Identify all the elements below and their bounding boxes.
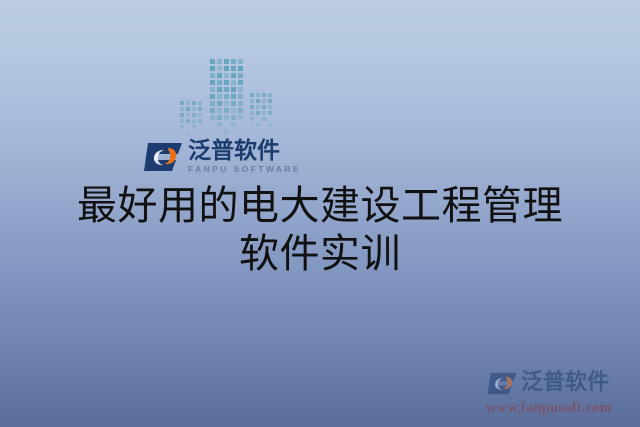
brand-name-cn: 泛普软件: [188, 140, 301, 163]
brand-name-en: FANPU SOFTWARE: [188, 164, 301, 174]
center-brand-wordmark: 泛普软件 FANPU SOFTWARE: [188, 140, 301, 175]
watermark-logo-row: 泛普软件: [486, 368, 634, 398]
watermark-brand-name: 泛普软件: [521, 372, 609, 394]
brand-watermark: 泛普软件 www.fanpusoft.com: [486, 368, 634, 418]
title-line-2: 软件实训: [0, 230, 640, 278]
center-brand-logo: 泛普软件 FANPU SOFTWARE: [142, 134, 292, 180]
title-line-1: 最好用的电大建设工程管理: [0, 182, 640, 230]
watermark-url: www.fanpusoft.com: [486, 401, 634, 416]
slide-canvas: 泛普软件 FANPU SOFTWARE 最好用的电大建设工程管理 软件实训 泛普…: [0, 0, 640, 427]
fanpu-logo-mark-icon: [486, 371, 518, 396]
page-title: 最好用的电大建设工程管理 软件实训: [0, 182, 640, 278]
fanpu-logo-mark-icon: [142, 141, 184, 173]
pixel-cityscape-icon: [170, 55, 282, 137]
